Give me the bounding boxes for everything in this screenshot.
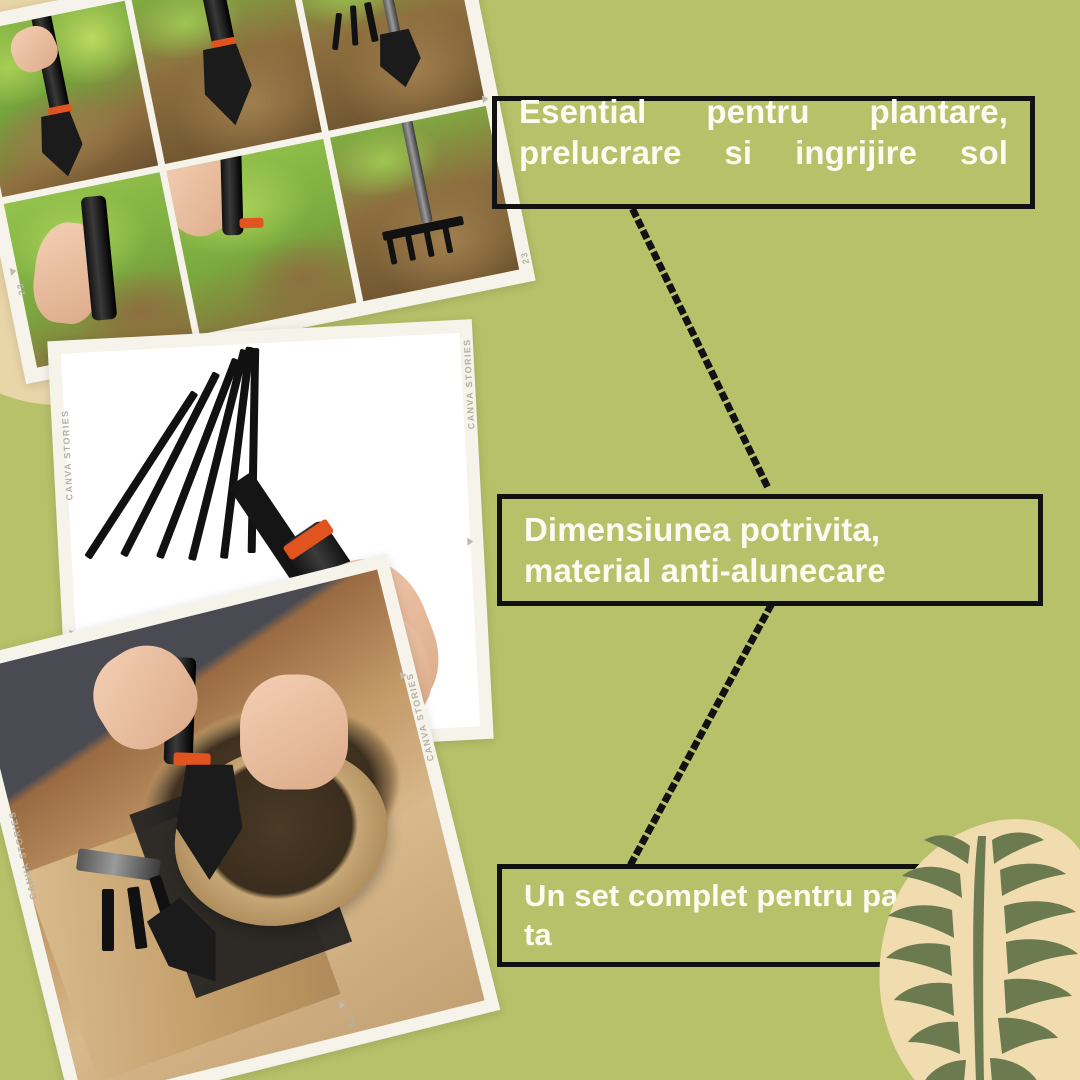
callout-text-1: Esential pentru plantare, prelucrare si … <box>497 91 1030 215</box>
collage-cell-5 <box>167 139 357 335</box>
collage-cell-2 <box>132 0 322 163</box>
collage-frame-number-right: 23 <box>519 250 531 265</box>
collage-cell-1 <box>0 1 158 197</box>
film-triangle-icon <box>400 671 408 680</box>
callout-box-2[interactable]: Dimensiunea potrivita, material anti-alu… <box>497 494 1043 606</box>
callout-text-2: Dimensiunea potrivita, material anti-alu… <box>502 509 1038 592</box>
film-triangle-icon <box>482 94 489 103</box>
monstera-leaf-icon <box>852 816 1080 1080</box>
callout-box-1[interactable]: Esential pentru plantare, prelucrare si … <box>492 96 1035 209</box>
dotted-line-2 <box>632 607 770 862</box>
collage-grid <box>0 0 519 368</box>
film-triangle-icon <box>467 537 473 545</box>
collage-cell-6 <box>330 105 520 301</box>
film-triangle-icon <box>10 267 17 276</box>
dotted-line-1 <box>634 212 770 492</box>
poster-canvas: 23 CANVA STORIES 23 23 CANVA STORIES CA <box>0 0 1080 1080</box>
rake-watermark-right: CANVA STORIES <box>462 338 477 429</box>
